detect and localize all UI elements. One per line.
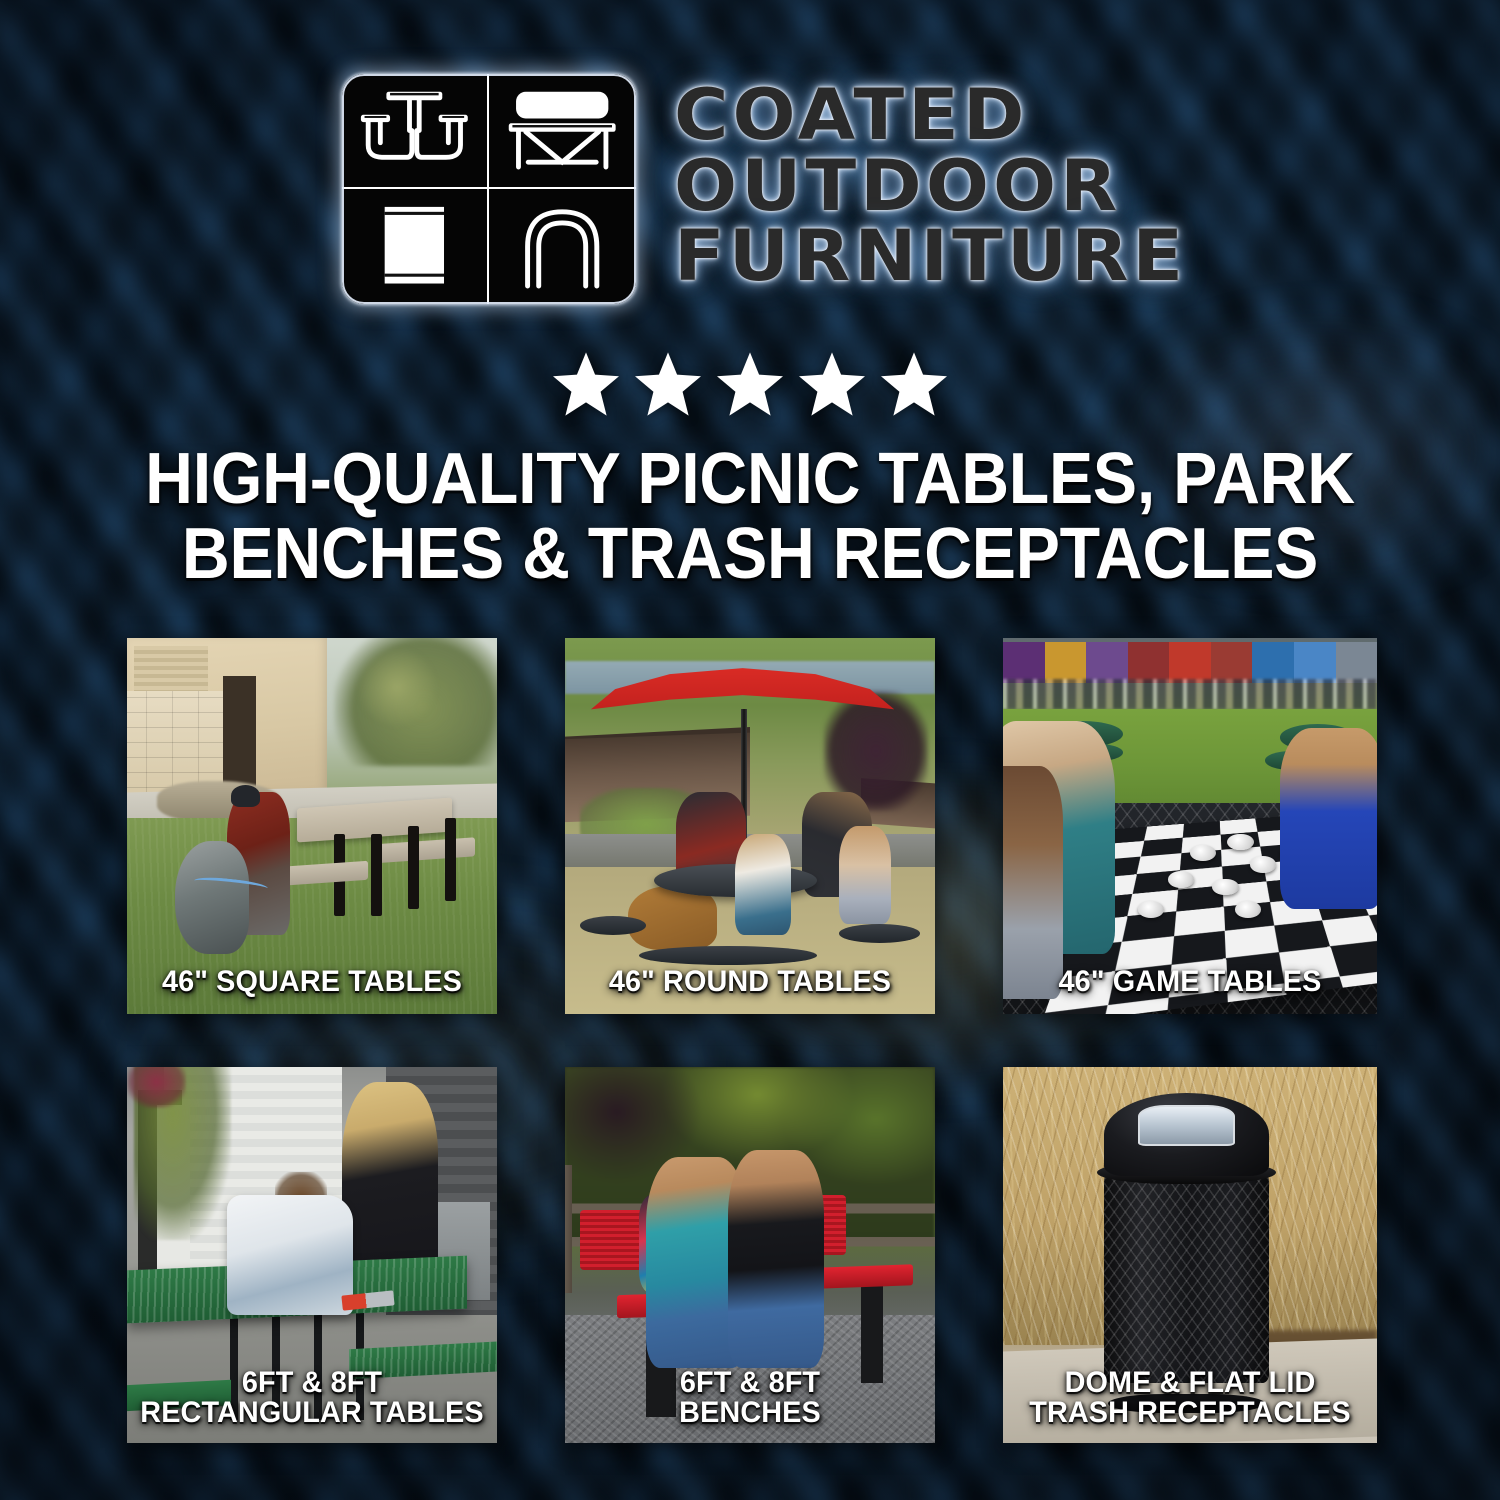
logo-line-2: OUTDOOR [674,152,1187,221]
festival-tents [1003,642,1377,683]
product-caption: 46" ROUND TABLES [572,967,927,998]
logo-line-1: COATED [674,81,1187,150]
trash-receptacle-icon [342,189,489,304]
product-tile-rectangular-tables[interactable]: 6FT & 8FT RECTANGULAR TABLES [127,1067,497,1443]
caption-line-2: TRASH RECEPTACLES [1016,1398,1364,1429]
logo-mark [342,74,636,304]
star-icon [717,352,783,416]
caption-line-2: BENCHES [578,1398,922,1429]
caption-line-1: 6FT & 8FT [140,1368,484,1399]
product-photo-square-tables [127,638,497,1014]
product-caption: 6FT & 8FT BENCHES [572,1368,927,1429]
product-photo-round-tables [565,638,935,1014]
product-tile-game-tables[interactable]: 46" GAME TABLES [1003,638,1377,1014]
caption-line-1: DOME & FLAT LID [1016,1368,1364,1399]
star-icon [635,352,701,416]
park-bench-icon [489,74,636,189]
product-caption: DOME & FLAT LID TRASH RECEPTACLES [1010,1368,1369,1429]
product-tile-trash-receptacles[interactable]: DOME & FLAT LID TRASH RECEPTACLES [1003,1067,1377,1443]
product-tile-square-tables[interactable]: 46" SQUARE TABLES [127,638,497,1014]
star-rating [0,352,1500,416]
bike-rack-icon [489,189,636,304]
page-headline: HIGH-QUALITY PICNIC TABLES, PARK BENCHES… [60,442,1440,592]
star-icon [553,352,619,416]
product-tile-round-tables[interactable]: 46" ROUND TABLES [565,638,935,1014]
caption-line-2: RECTANGULAR TABLES [140,1398,484,1429]
star-icon [881,352,947,416]
product-photo-game-tables [1003,638,1377,1014]
brand-logo-lockup: COATED OUTDOOR FURNITURE [0,74,1500,304]
caption-line-1: 46" ROUND TABLES [578,967,922,998]
product-caption: 46" SQUARE TABLES [134,967,489,998]
product-tile-benches[interactable]: 6FT & 8FT BENCHES [565,1067,935,1443]
product-tile-grid: 46" SQUARE TABLES [127,638,1375,1443]
picnic-table-icon [342,74,489,189]
logo-line-3: FURNITURE [674,222,1187,291]
headline-line-1: HIGH-QUALITY PICNIC TABLES, PARK [115,442,1385,517]
product-caption: 6FT & 8FT RECTANGULAR TABLES [134,1368,489,1429]
product-caption: 46" GAME TABLES [1010,967,1369,998]
caption-line-1: 6FT & 8FT [578,1368,922,1399]
headline-line-2: BENCHES & TRASH RECEPTACLES [115,517,1385,592]
caption-line-1: 46" GAME TABLES [1016,967,1364,998]
caption-line-1: 46" SQUARE TABLES [140,967,484,998]
star-icon [799,352,865,416]
